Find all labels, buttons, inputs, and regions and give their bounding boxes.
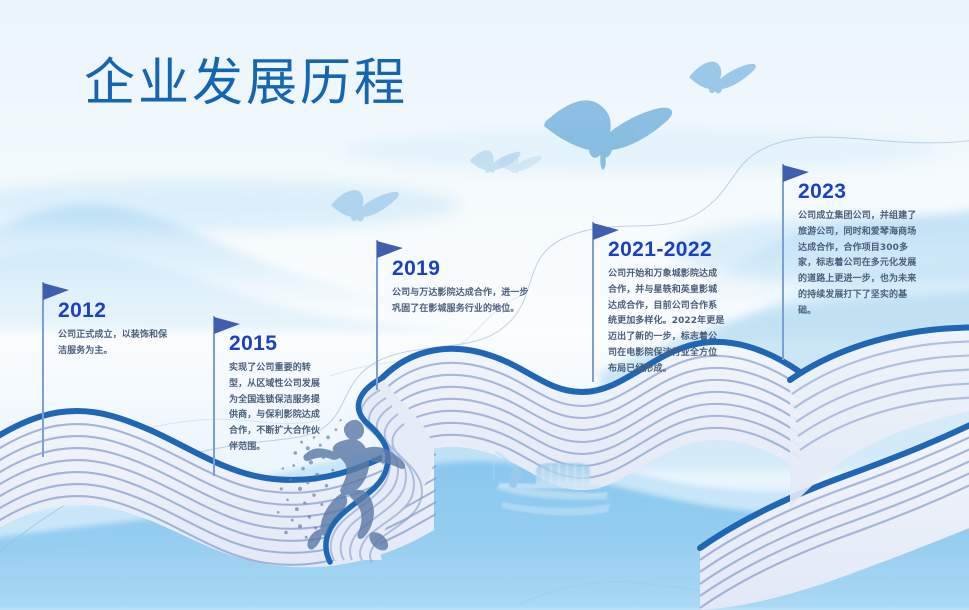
milestone-year: 2019 xyxy=(392,257,440,281)
flag-pole xyxy=(42,282,44,457)
flag-pole xyxy=(782,164,784,360)
seagull-faint-right xyxy=(498,154,542,173)
flag-pole xyxy=(376,240,378,390)
milestone-year: 2023 xyxy=(798,180,846,204)
ribbon-segment-right xyxy=(700,416,969,610)
milestone-year: 2015 xyxy=(229,332,277,356)
decorative-curve xyxy=(0,137,969,604)
milestone-description: 公司与万达影院达成合作，进一步巩固了在影城服务行业的地位。 xyxy=(392,286,532,318)
flag-pole xyxy=(592,222,594,382)
seagull-small-left xyxy=(331,190,399,221)
seagull-medium xyxy=(689,62,756,94)
milestone-description: 公司开始和万象城影院达成合作，并与星轶和英皇影城达成合作，目前公司合作系统更加多… xyxy=(608,267,726,377)
ribbon-segment-upper-right xyxy=(790,326,969,508)
page-title: 企业发展历程 xyxy=(84,58,408,109)
seagull-small-mid xyxy=(470,150,520,172)
timeline-poster: 企业发展历程 2012 公司正式成立，以装饰和保洁服务为主。 2015 实现了公… xyxy=(0,0,969,610)
milestone-description: 公司正式成立，以装饰和保洁服务为主。 xyxy=(58,328,168,360)
milestone-description: 实现了公司重要的转型，从区域性公司发展为全国连锁保洁服务提供商，与保利影院达成合… xyxy=(229,361,325,456)
ribbon-segment-middle xyxy=(326,342,800,562)
seagull-large xyxy=(544,100,672,170)
flag-pole xyxy=(213,316,215,476)
milestone-description: 公司成立集团公司，并组建了旅游公司，同时和爱琴海商场达成合作，合作项目300多家… xyxy=(798,209,921,319)
milestone-year: 2012 xyxy=(58,299,106,323)
milestone-year: 2021-2022 xyxy=(608,238,712,262)
ribbon-segment-left xyxy=(0,411,436,567)
